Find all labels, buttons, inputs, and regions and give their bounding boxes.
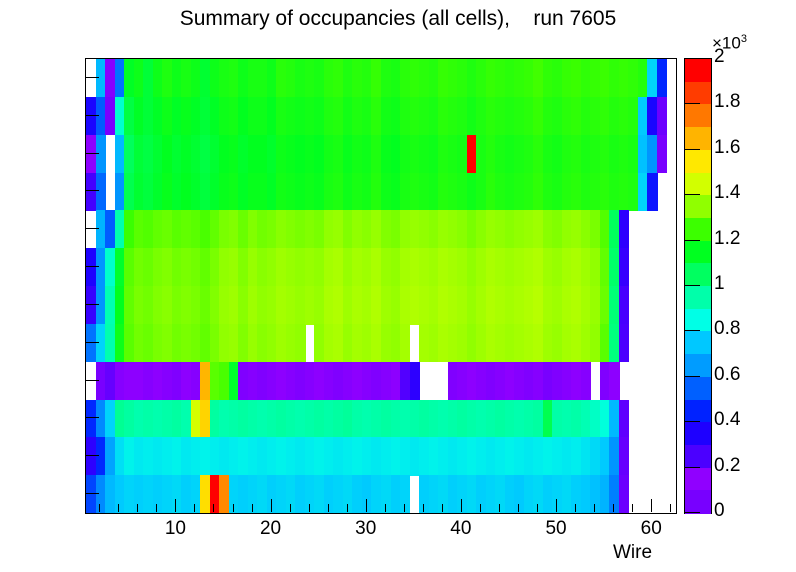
x-minor-tick: [670, 504, 671, 512]
heatmap-cell: [619, 475, 629, 513]
x-minor-tick: [518, 504, 519, 512]
colorbar-tick-mark: [684, 330, 700, 331]
colorbar-band: [685, 241, 711, 264]
colorbar-tick-label-0-6: 0.6: [714, 364, 740, 386]
heatmap-cell: [619, 400, 629, 439]
x-minor-tick: [404, 504, 405, 512]
x-minor-tick: [309, 504, 310, 512]
x-minor-tick: [594, 504, 595, 512]
colorbar-tick-mark: [684, 421, 700, 422]
heatmap-grid: [86, 59, 676, 513]
colorbar-band: [685, 195, 711, 218]
y-tick-mark: [85, 77, 99, 78]
colorbar-band: [685, 286, 711, 309]
colorbar-tick-mark: [684, 285, 700, 286]
colorbar: [684, 58, 712, 514]
x-axis-title: Wire: [613, 542, 652, 564]
colorbar-tick-mark: [684, 103, 700, 104]
x-minor-tick: [233, 504, 234, 512]
colorbar-tick-mark: [684, 467, 700, 468]
colorbar-tick-label-0-4: 0.4: [714, 409, 740, 431]
x-minor-tick: [118, 504, 119, 512]
plot-frame: [85, 58, 677, 514]
y-tick-mark: [85, 115, 99, 116]
heatmap-cell: [410, 362, 420, 401]
colorbar-band: [685, 104, 711, 127]
x-tick-label-10: 10: [150, 518, 200, 540]
colorbar-tick-mark: [684, 512, 700, 513]
x-major-tick: [461, 499, 462, 512]
heatmap-cell: [400, 324, 410, 363]
colorbar-band: [685, 59, 711, 82]
y-tick-mark: [85, 266, 99, 267]
y-tick-mark: [85, 228, 99, 229]
x-major-tick: [175, 499, 176, 512]
colorbar-tick-label-0-8: 0.8: [714, 318, 740, 340]
root-canvas: Summary of occupancies (all cells), run …: [0, 0, 796, 572]
x-minor-tick: [99, 504, 100, 512]
colorbar-band: [685, 263, 711, 286]
heatmap-cell: [96, 135, 106, 174]
x-tick-label-50: 50: [531, 518, 581, 540]
x-minor-tick: [328, 504, 329, 512]
heatmap-cell: [647, 173, 657, 212]
colorbar-band: [685, 354, 711, 377]
heatmap-cell: [657, 59, 667, 98]
colorbar-band: [685, 150, 711, 173]
colorbar-band: [685, 468, 711, 491]
y-tick-mark: [85, 190, 99, 191]
colorbar-tick-mark: [684, 376, 700, 377]
x-tick-label-60: 60: [626, 518, 676, 540]
y-tick-mark: [85, 342, 99, 343]
x-minor-tick: [252, 504, 253, 512]
x-minor-tick: [480, 504, 481, 512]
heatmap-cell: [619, 286, 629, 325]
y-tick-mark: [85, 380, 99, 381]
heatmap-cell: [609, 362, 619, 401]
x-major-tick: [366, 499, 367, 512]
x-minor-tick: [442, 504, 443, 512]
x-minor-tick: [385, 504, 386, 512]
colorbar-band: [685, 377, 711, 400]
heatmap-cell: [657, 135, 667, 174]
x-major-tick: [651, 499, 652, 512]
x-minor-tick: [613, 504, 614, 512]
x-tick-label-30: 30: [341, 518, 391, 540]
x-tick-label-20: 20: [246, 518, 296, 540]
colorbar-band: [685, 400, 711, 423]
colorbar-exponent-label: ×103: [712, 33, 747, 54]
y-tick-mark: [85, 153, 99, 154]
colorbar-tick-label-1-2: 1.2: [714, 228, 740, 250]
colorbar-band: [685, 309, 711, 332]
x-tick-label-40: 40: [436, 518, 486, 540]
x-minor-tick: [632, 504, 633, 512]
x-minor-tick: [290, 504, 291, 512]
y-tick-mark: [85, 455, 99, 456]
colorbar-tick-label-1: 1: [714, 273, 725, 295]
y-tick-mark: [85, 493, 99, 494]
heatmap-cell: [619, 210, 629, 249]
x-minor-tick: [194, 504, 195, 512]
colorbar-exponent-power: 3: [741, 33, 747, 45]
colorbar-tick-label-1-4: 1.4: [714, 182, 740, 204]
colorbar-tick-label-0: 0: [714, 500, 725, 522]
page-title: Summary of occupancies (all cells), run …: [0, 6, 796, 32]
colorbar-tick-label-1-6: 1.6: [714, 137, 740, 159]
heatmap-cell: [619, 437, 629, 476]
x-minor-tick: [499, 504, 500, 512]
x-minor-tick: [423, 504, 424, 512]
heatmap-cell: [619, 248, 629, 287]
colorbar-band: [685, 218, 711, 241]
colorbar-band: [685, 445, 711, 468]
heatmap-cell: [400, 475, 410, 513]
colorbar-band: [685, 331, 711, 354]
y-tick-mark: [85, 417, 99, 418]
heatmap-cell: [295, 324, 305, 363]
x-major-tick: [556, 499, 557, 512]
x-minor-tick: [156, 504, 157, 512]
colorbar-band: [685, 173, 711, 196]
colorbar-tick-mark: [684, 240, 700, 241]
x-minor-tick: [137, 504, 138, 512]
heatmap-cell: [657, 97, 667, 136]
colorbar-tick-label-1-8: 1.8: [714, 91, 740, 113]
x-minor-tick: [213, 504, 214, 512]
colorbar-band: [685, 422, 711, 445]
colorbar-band: [685, 127, 711, 150]
heatmap-cell: [96, 173, 106, 212]
colorbar-tick-mark: [684, 194, 700, 195]
x-minor-tick: [537, 504, 538, 512]
colorbar-band: [685, 82, 711, 105]
colorbar-tick-mark: [684, 58, 700, 59]
x-minor-tick: [575, 504, 576, 512]
y-tick-mark: [85, 304, 99, 305]
colorbar-tick-mark: [684, 149, 700, 150]
colorbar-tick-label-0-2: 0.2: [714, 455, 740, 477]
heatmap-cell: [581, 362, 591, 401]
colorbar-exponent-base: ×10: [712, 34, 741, 53]
x-major-tick: [271, 499, 272, 512]
colorbar-band: [685, 490, 711, 513]
heatmap-cell: [619, 324, 629, 363]
x-minor-tick: [347, 504, 348, 512]
